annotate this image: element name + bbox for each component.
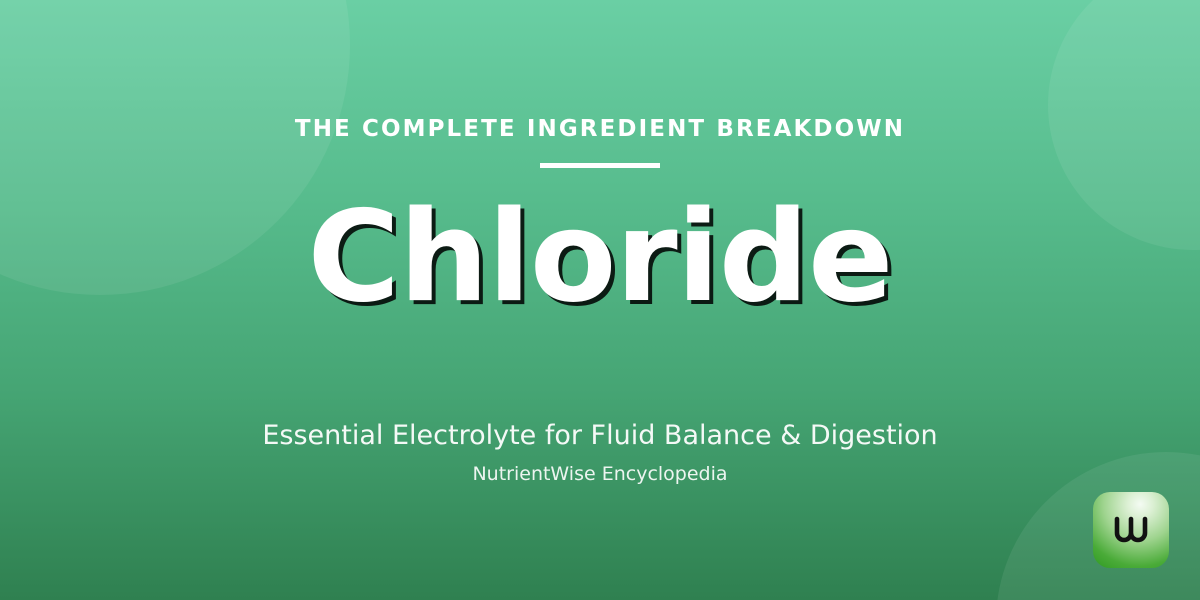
brand-name: NutrientWise Encyclopedia	[472, 464, 727, 486]
title-slide: THE COMPLETE INGREDIENT BREAKDOWN Chlori…	[0, 0, 1200, 600]
nutrientwise-w-monogram-icon	[1111, 514, 1151, 546]
page-title: Chloride	[308, 193, 893, 322]
brand-logo-badge	[1093, 492, 1169, 568]
title-divider	[540, 163, 660, 168]
subtitle-text: Essential Electrolyte for Fluid Balance …	[262, 420, 937, 451]
title-content-stack: THE COMPLETE INGREDIENT BREAKDOWN Chlori…	[0, 0, 1200, 600]
eyebrow-label: THE COMPLETE INGREDIENT BREAKDOWN	[295, 118, 905, 141]
